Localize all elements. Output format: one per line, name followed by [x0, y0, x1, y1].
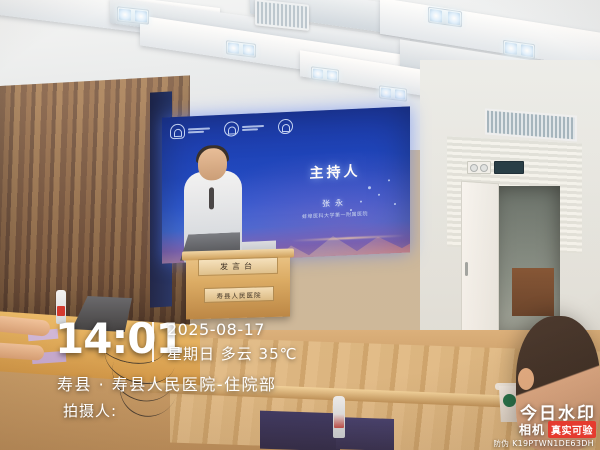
microphone-icon	[209, 187, 214, 209]
coffee-cup-logo-icon	[503, 394, 516, 407]
foreground-person-ear	[518, 368, 534, 390]
attendee-hand	[0, 342, 44, 361]
photo-canvas: 主持人 张永 蚌埠医科大学第一附属医院 发言台 寿县人民医院 14:01 202…	[0, 0, 600, 450]
ceiling-spotlight-icon	[117, 6, 149, 24]
speaker-head	[198, 148, 227, 181]
water-bottle-icon	[56, 290, 66, 324]
slide-title: 主持人	[270, 159, 400, 185]
podium-bottom-plate-text: 寿县人民医院	[217, 289, 262, 300]
slide-logo-row	[170, 119, 293, 140]
organization-logo-icon	[170, 122, 210, 139]
organization-logo-icon	[224, 120, 264, 137]
podium-top-plate: 发言台	[198, 257, 278, 276]
podium-bottom-plate: 寿县人民医院	[204, 286, 274, 303]
emergency-light-icon	[467, 161, 491, 174]
water-bottle-icon	[333, 396, 345, 438]
organization-logo-icon	[278, 119, 293, 135]
floor-banner	[260, 411, 340, 450]
desk-beyond-door	[512, 268, 554, 316]
slide-glow-line	[291, 235, 405, 242]
led-presentation-screen: 主持人 张永 蚌埠医科大学第一附属医院	[162, 106, 410, 263]
podium-top-plate-text: 发言台	[220, 260, 256, 272]
exit-sign-icon	[494, 161, 524, 174]
door-handle	[465, 262, 468, 276]
